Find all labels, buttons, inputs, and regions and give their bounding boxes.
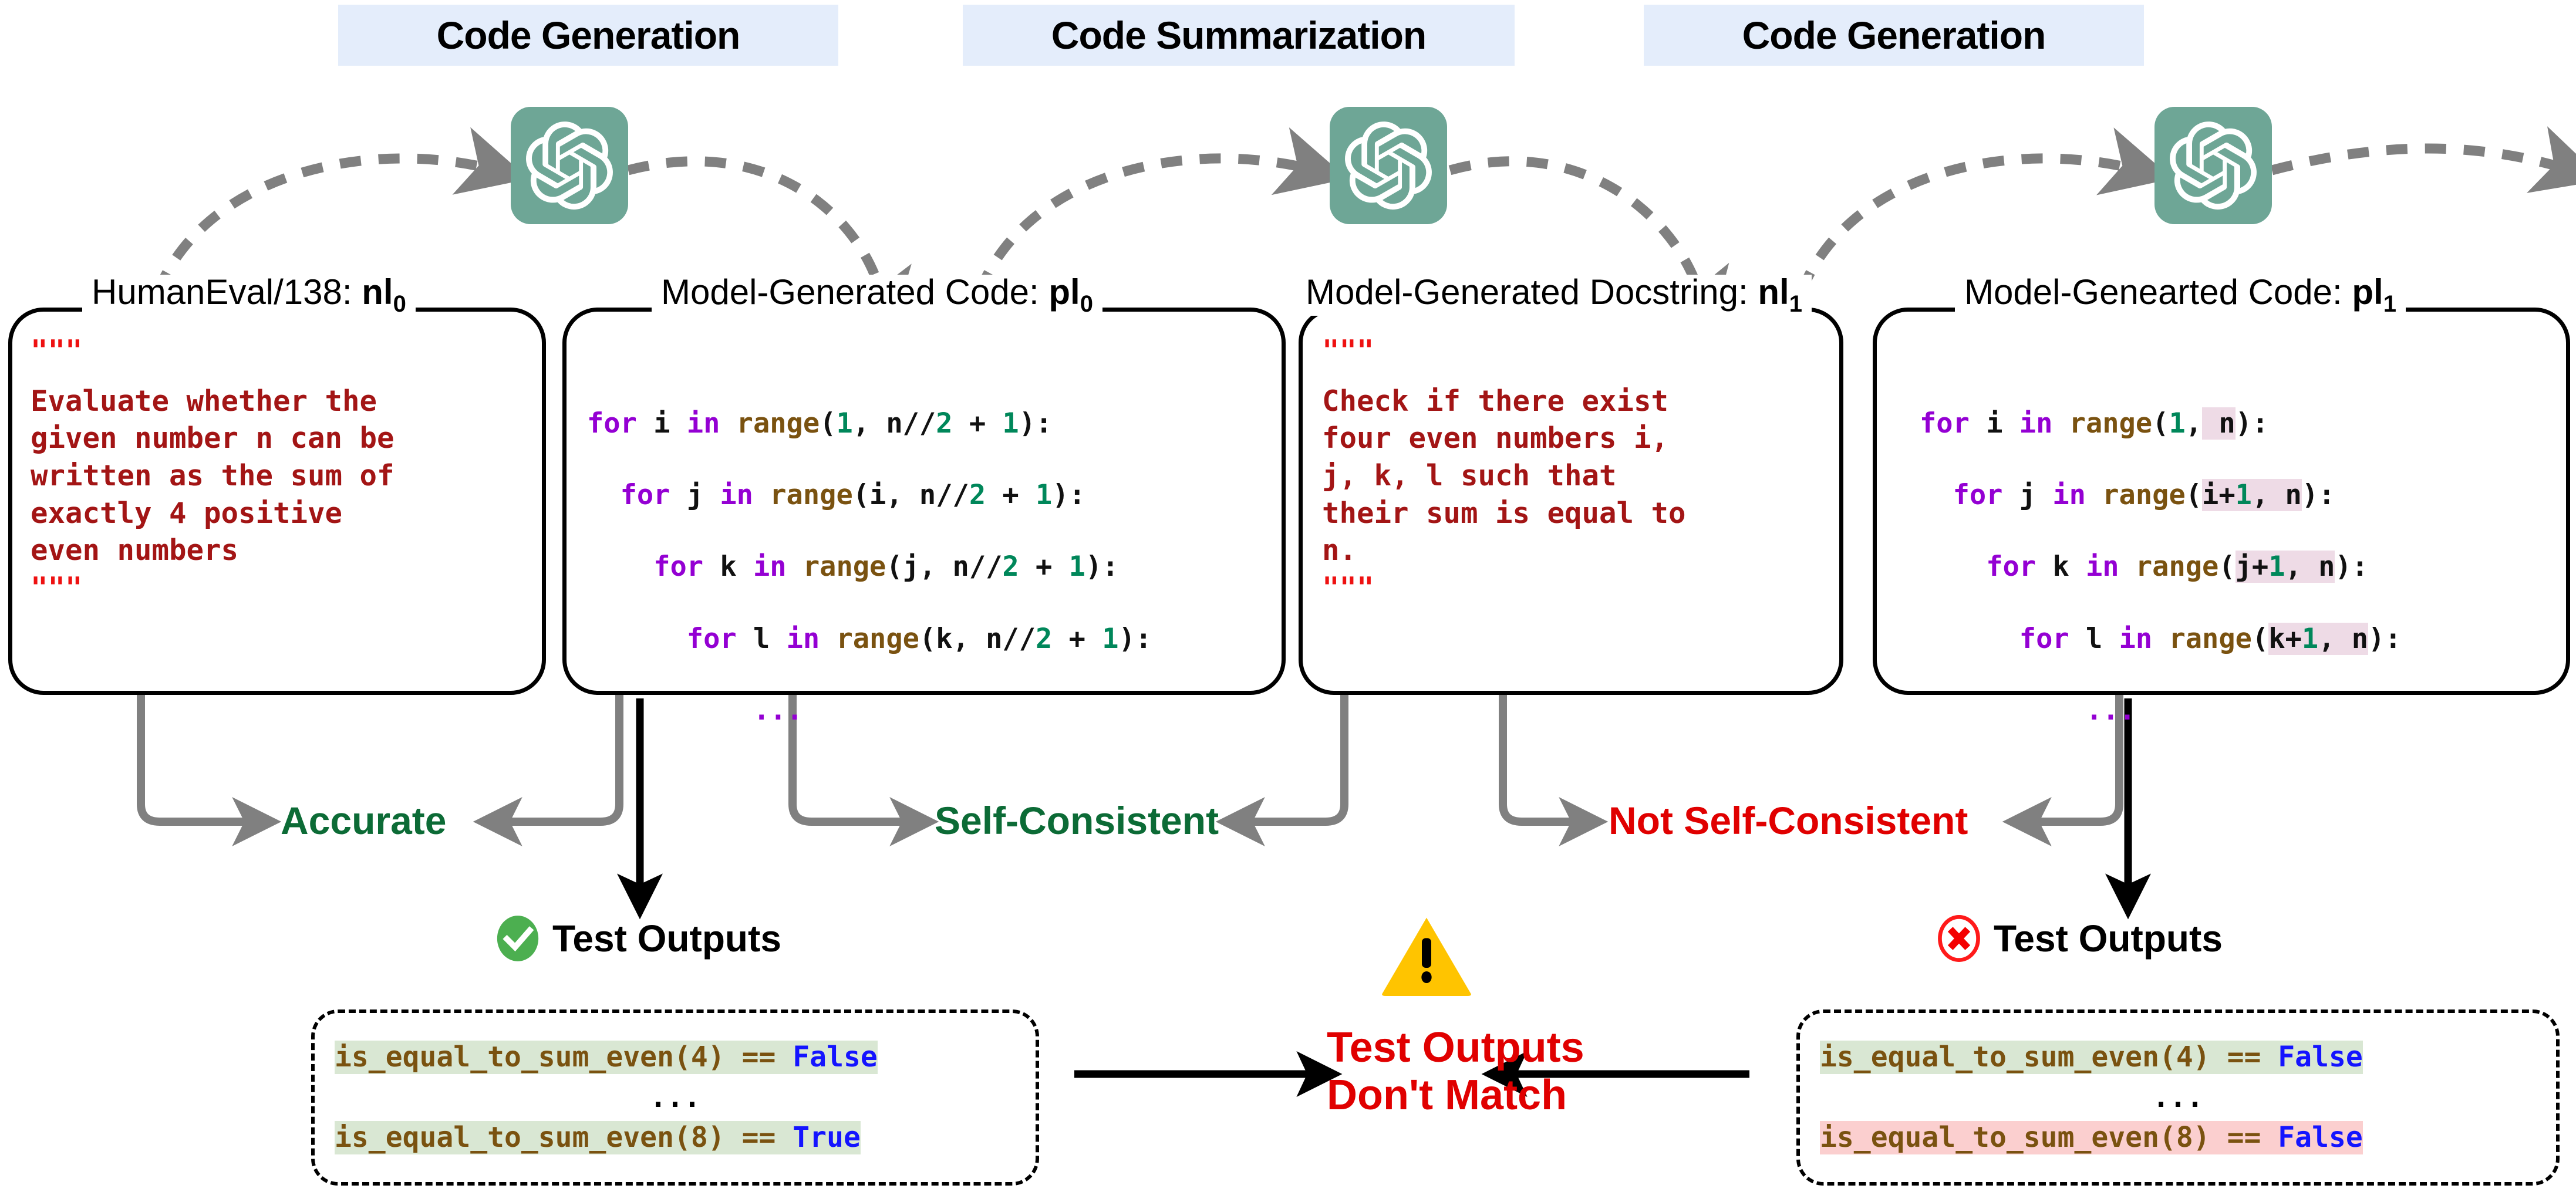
panel-pl1-title-subscript: 1	[2383, 291, 2396, 317]
test-outputs-label-right: Test Outputs	[1937, 914, 2223, 963]
code-line: ...	[587, 693, 1280, 728]
test-call-left-1: is_equal_to_sum_even(4) ==	[335, 1041, 793, 1073]
stage-badge-code-generation-1: Code Generation	[338, 5, 838, 66]
stage-badge-code-generation-2: Code Generation	[1644, 5, 2144, 66]
code-line: for i in range(1, n//2 + 1):	[587, 406, 1280, 441]
test-output-row: is_equal_to_sum_even(4) == False	[335, 1041, 1016, 1074]
panel-nl1-title-subscript: 1	[1789, 291, 1802, 317]
code-line: for k in range(j+1, n):	[1920, 549, 2565, 585]
test-output-row: is_equal_to_sum_even(8) == False	[1820, 1121, 2536, 1154]
test-output-row: is_equal_to_sum_even(4) == False	[1820, 1041, 2536, 1074]
docstring-close-quote-nl1: """	[1322, 569, 1833, 607]
panel-nl0-body: """ Evaluate whether the given number n …	[31, 332, 530, 607]
test-output-row: is_equal_to_sum_even(8) == True	[335, 1121, 1016, 1154]
mismatch-line-2: Don't Match	[1327, 1072, 1538, 1119]
panel-pl0-title-subscript: 0	[1080, 291, 1093, 317]
test-value-right-1: False	[2278, 1041, 2363, 1073]
docstring-open-quote-nl0: """	[31, 332, 530, 370]
code-line: for i in range(1, n):	[1920, 406, 2565, 441]
docstring-close-quote-nl0: """	[31, 569, 530, 607]
test-value-left-1: False	[793, 1041, 878, 1073]
test-outputs-label-left: Test Outputs	[496, 914, 781, 963]
panel-pl0-title-main: Model-Generated Code:	[661, 272, 1048, 312]
mismatch-message: Test Outputs Don't Match	[1327, 1024, 1538, 1119]
docstring-text-nl1: Check if there exist four even numbers i…	[1322, 383, 1833, 569]
panel-nl1-body: """ Check if there exist four even numbe…	[1322, 332, 1833, 607]
panel-pl0-title: Model-Generated Code: pl0	[652, 275, 1102, 316]
panel-nl0-title-symbol: nl	[362, 272, 393, 312]
chatgpt-logo-1	[511, 107, 628, 224]
panel-nl0-title-subscript: 0	[393, 291, 406, 317]
panel-pl1-code: for i in range(1, n): for j in range(i+1…	[1920, 370, 2565, 800]
code-line: for l in range(k+1, n):	[1920, 621, 2565, 657]
test-output-box-left: is_equal_to_sum_even(4) == False ... is_…	[311, 1009, 1039, 1186]
code-line: for j in range(i, n//2 + 1):	[587, 477, 1280, 513]
test-call-left-2: is_equal_to_sum_even(8) ==	[335, 1121, 793, 1154]
test-call-right-1: is_equal_to_sum_even(4) ==	[1820, 1041, 2278, 1073]
panel-nl1-title: Model-Generated Docstring: nl1	[1296, 275, 1812, 316]
verdict-accurate: Accurate	[281, 801, 446, 840]
docstring-text-nl0: Evaluate whether the given number n can …	[31, 383, 530, 569]
test-row-left-1: is_equal_to_sum_even(4) == False	[335, 1041, 878, 1074]
test-outputs-label-right-text: Test Outputs	[1994, 917, 2223, 960]
chatgpt-logo-2	[1330, 107, 1447, 224]
panel-pl0-code: for i in range(1, n//2 + 1): for j in ra…	[587, 370, 1280, 800]
panel-pl0-title-symbol: pl	[1048, 272, 1080, 312]
code-line: for j in range(i+1, n):	[1920, 477, 2565, 513]
panel-nl0-title: HumanEval/138: nl0	[82, 275, 416, 316]
chatgpt-logo-3	[2154, 107, 2272, 224]
check-circle-icon	[496, 914, 540, 963]
test-row-left-2: is_equal_to_sum_even(8) == True	[335, 1121, 861, 1154]
code-line: for k in range(j, n//2 + 1):	[587, 549, 1280, 585]
warning-triangle-icon	[1380, 914, 1474, 985]
code-line: for l in range(k, n//2 + 1):	[587, 621, 1280, 657]
cross-circle-icon	[1937, 914, 1981, 963]
test-value-right-2: False	[2278, 1121, 2363, 1154]
figure-canvas: Code Generation Code Summarization Code …	[0, 0, 2576, 1202]
mismatch-line-1: Test Outputs	[1327, 1024, 1538, 1072]
docstring-open-quote-nl1: """	[1322, 332, 1833, 370]
panel-pl1-title-main: Model-Genearted Code:	[1964, 272, 2352, 312]
test-ellipsis-left: ...	[335, 1081, 1016, 1114]
verdict-not-self-consistent: Not Self-Consistent	[1609, 801, 1968, 840]
panel-nl1-title-symbol: nl	[1758, 272, 1789, 312]
test-ellipsis-right: ...	[1820, 1081, 2536, 1114]
stage-badge-code-summarization: Code Summarization	[963, 5, 1515, 66]
test-value-left-2: True	[793, 1121, 861, 1154]
test-row-right-2: is_equal_to_sum_even(8) == False	[1820, 1121, 2363, 1154]
panel-nl1-title-main: Model-Generated Docstring:	[1306, 272, 1758, 312]
panel-pl1-title-symbol: pl	[2352, 272, 2383, 312]
panel-pl1-title: Model-Genearted Code: pl1	[1955, 275, 2406, 316]
verdict-self-consistent: Self-Consistent	[935, 801, 1219, 840]
panel-nl0-title-main: HumanEval/138:	[92, 272, 362, 312]
test-output-box-right: is_equal_to_sum_even(4) == False ... is_…	[1796, 1009, 2560, 1186]
test-row-right-1: is_equal_to_sum_even(4) == False	[1820, 1041, 2363, 1074]
test-outputs-label-left-text: Test Outputs	[552, 917, 781, 960]
code-line: ...	[1920, 693, 2565, 728]
test-call-right-2: is_equal_to_sum_even(8) ==	[1820, 1121, 2278, 1154]
